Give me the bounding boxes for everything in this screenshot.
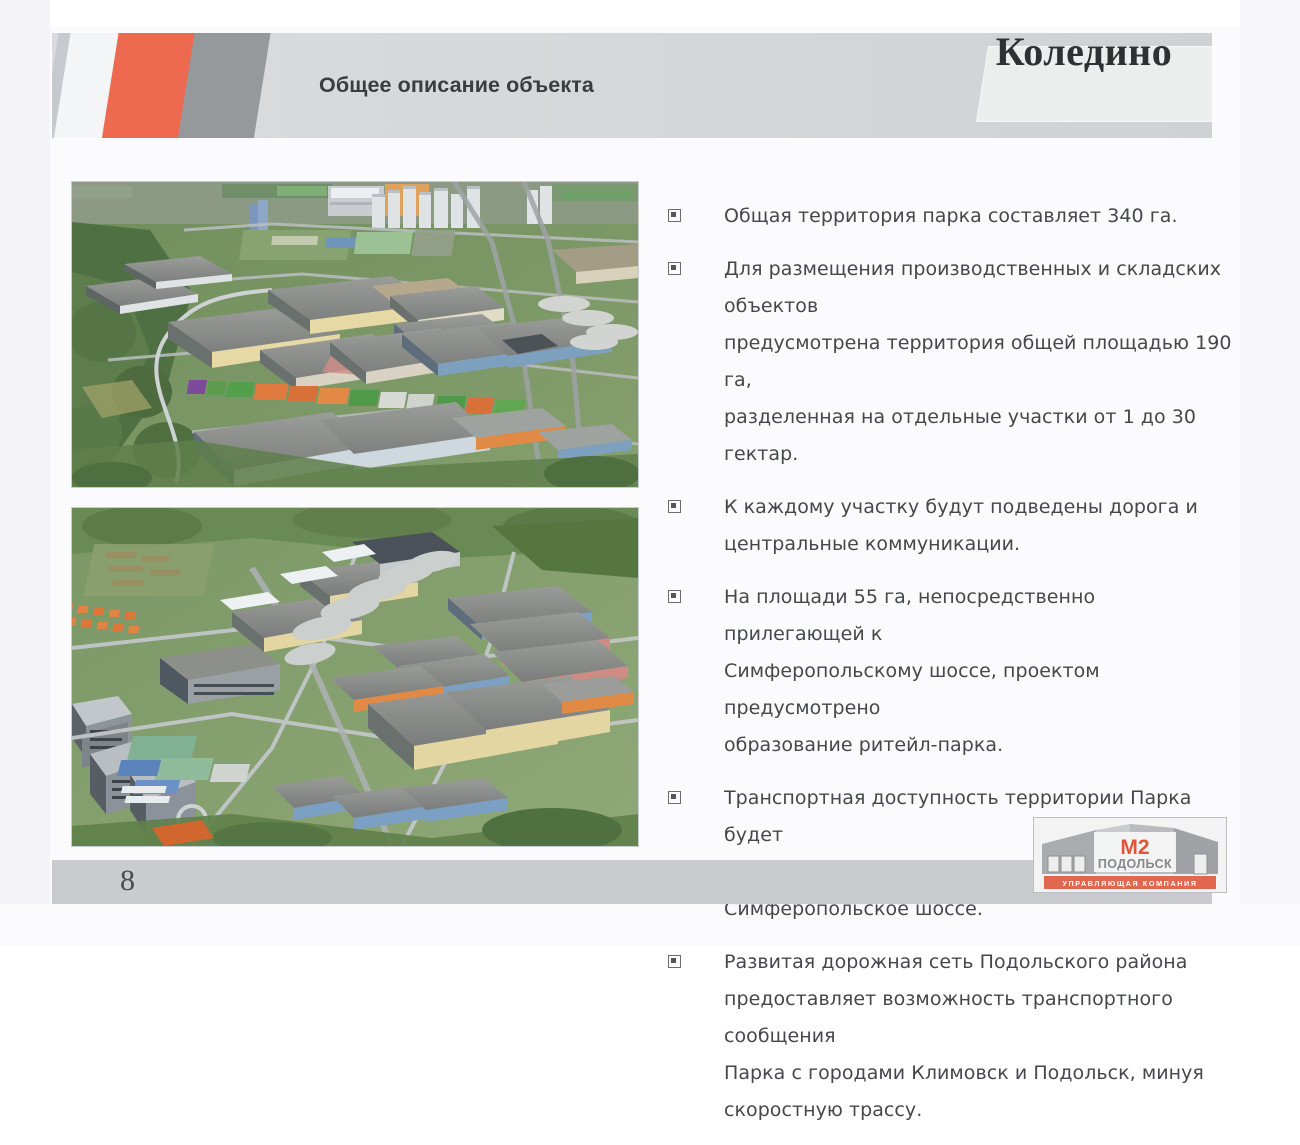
m2-podolsk-logo: M2 ПОДОЛЬСК УПРАВЛЯЮЩАЯ КОМПАНИЯ [1034,818,1226,892]
square-bullet-icon [668,955,681,968]
bullet-line: предоставляет возможность транспортного … [724,988,1173,1047]
bullet-line: Общая территория парка составляет 340 га… [724,205,1178,227]
bullet-text: К каждому участку будут подведены дорога… [724,489,1198,563]
bullet-item: Развитая дорожная сеть Подольского район… [668,944,1234,1129]
bullet-line: центральные коммуникации. [724,533,1020,555]
m2-podolsk-logo-graphic: M2 ПОДОЛЬСК УПРАВЛЯЮЩАЯ КОМПАНИЯ [1034,818,1226,892]
square-bullet-icon [668,262,681,275]
square-bullet-icon [668,500,681,513]
logo-city: ПОДОЛЬСК [1098,857,1172,871]
bullet-item: Общая территория парка составляет 340 га… [668,198,1234,235]
logo-mark: M2 [1120,836,1149,859]
paper-edge-right [1240,0,1300,946]
bullet-line: образование ритейл-парка. [724,734,1003,756]
bullet-line: Симферопольскому шоссе, проектом предусм… [724,660,1100,719]
aerial-photo-bottom-graphic [72,508,638,846]
presentation-slide: Общее описание объекта Коледино [0,0,1300,946]
bullet-line: предусмотрена территория общей площадью … [724,332,1232,391]
bullet-item: Для размещения производственных и складс… [668,251,1234,473]
bullet-list: Общая территория парка составляет 340 га… [668,198,1234,1145]
aerial-photo-top-graphic [72,182,638,487]
paper-edge-left [0,0,50,946]
bullet-line: скоростную трассу. [724,1099,922,1121]
bullet-item: На площади 55 га, непосредственно прилег… [668,579,1234,764]
bullet-item: К каждому участку будут подведены дорога… [668,489,1234,563]
logo-tagline: УПРАВЛЯЮЩАЯ КОМПАНИЯ [1062,879,1197,888]
bullet-line: разделенная на отдельные участки от 1 до… [724,406,1196,465]
page-number: 8 [120,864,135,898]
square-bullet-icon [668,590,681,603]
square-bullet-icon [668,791,681,804]
bullet-line: К каждому участку будут подведены дорога… [724,496,1198,518]
bullet-line: Парка с городами Климовск и Подольск, ми… [724,1062,1204,1084]
bullet-text: Общая территория парка составляет 340 га… [724,198,1178,235]
bullet-line: Для размещения производственных и складс… [724,258,1221,317]
bullet-line: На площади 55 га, непосредственно прилег… [724,586,1095,645]
bullet-text: На площади 55 га, непосредственно прилег… [724,579,1234,764]
bullet-text: Развитая дорожная сеть Подольского район… [724,944,1234,1129]
bullet-line: Развитая дорожная сеть Подольского район… [724,951,1187,973]
slide-title: Коледино [940,13,1228,89]
square-bullet-icon [668,209,681,222]
bullet-text: Для размещения производственных и складс… [724,251,1234,473]
slide-subtitle: Общее описание объекта [319,33,594,138]
aerial-view-industrial-park-bottom [72,508,638,846]
aerial-view-industrial-park-top [72,182,638,487]
